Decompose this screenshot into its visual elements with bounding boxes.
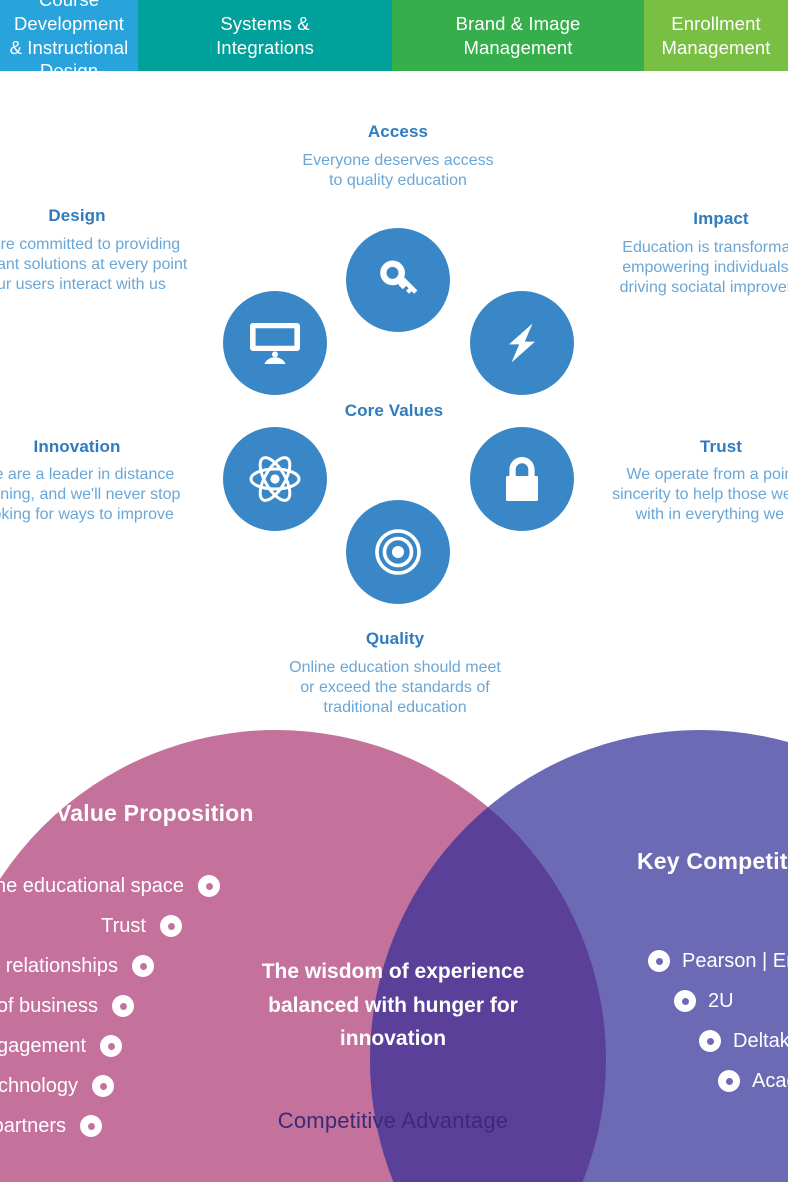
competitive-advantage-statement: The wisdom of experience balanced with h… <box>228 955 558 1056</box>
core-value-title-access: Access <box>244 122 552 142</box>
core-value-title-design: Design <box>0 206 232 226</box>
key-competitor-item-label: Pearson | Embanet <box>682 951 788 971</box>
bullet-dot-icon <box>80 1115 102 1137</box>
core-value-description-quality: Online education should meet or exceed t… <box>240 658 550 717</box>
category-segment-enrollment-management[interactable]: Enrollment Management <box>644 0 788 71</box>
core-value-title-impact: Impact <box>566 209 788 229</box>
list-item: Proprietary technology <box>0 1075 220 1097</box>
list-item: Deltak <box>648 1030 788 1052</box>
value-proposition-item-label: Leader in the educational space <box>0 876 184 896</box>
target-icon <box>372 526 424 578</box>
core-value-icon-circle-trust[interactable] <box>470 427 574 531</box>
monitor-icon <box>248 317 302 369</box>
core-value-icon-circle-impact[interactable] <box>470 291 574 395</box>
core-value-icon-circle-design[interactable] <box>223 291 327 395</box>
core-value-description-design: We're committed to providing elegant sol… <box>0 235 232 294</box>
value-proposition-item-label: Trust <box>101 916 146 936</box>
lightning-bolt-icon <box>496 317 548 369</box>
core-value-description-access: Everyone deserves access to quality educ… <box>244 151 552 191</box>
bullet-dot-icon <box>160 915 182 937</box>
list-item: 2U <box>648 990 788 1012</box>
core-value-description-impact: Education is transformative, empowering … <box>566 238 788 297</box>
bullet-dot-icon <box>198 875 220 897</box>
competitive-advantage-label: Competitive Advantage <box>228 1108 558 1134</box>
key-icon <box>372 254 424 306</box>
core-value-title-innovation: Innovation <box>0 437 232 457</box>
core-values-center-label: Core Values <box>0 401 788 421</box>
core-value-description-trust: We operate from a point of sincerity to … <box>566 465 788 524</box>
value-proposition-item-label: Long-term relationships <box>0 956 118 976</box>
list-item: Academic Partnerships <box>648 1070 788 1092</box>
core-value-title-quality: Quality <box>240 629 550 649</box>
list-item: Long-term relationships <box>0 955 220 977</box>
core-value-icon-circle-access[interactable] <box>346 228 450 332</box>
category-segment-course-development[interactable]: Course Development & Instructional Desig… <box>0 0 138 71</box>
key-competitors-list: Pearson | Embanet 2U Deltak Academic Par… <box>648 950 788 1110</box>
list-item: Dedicated partners <box>0 1115 220 1137</box>
value-proposition-list: Leader in the educational space Trust Lo… <box>0 875 220 1155</box>
core-value-title-trust: Trust <box>566 437 788 457</box>
list-item: Leader in the educational space <box>0 875 220 897</box>
key-competitor-item-label: Academic Partnerships <box>752 1071 788 1091</box>
bullet-dot-icon <box>718 1070 740 1092</box>
list-item: Trust <box>0 915 220 937</box>
venn-heading-value-proposition: Value Proposition <box>56 800 254 827</box>
bullet-dot-icon <box>674 990 696 1012</box>
list-item: Student engagement <box>0 1035 220 1057</box>
bullet-dot-icon <box>100 1035 122 1057</box>
bullet-dot-icon <box>699 1030 721 1052</box>
value-proposition-item-label: Dedicated partners <box>0 1116 66 1136</box>
core-value-description-innovation: We are a leader in distance learning, an… <box>0 465 232 524</box>
bullet-dot-icon <box>112 995 134 1017</box>
value-proposition-item-label: Understanding of business <box>0 996 98 1016</box>
category-segment-brand-image-management[interactable]: Brand & Image Management <box>392 0 644 71</box>
core-values-section: Access Everyone deserves access to quali… <box>0 71 788 730</box>
lock-icon <box>499 453 545 505</box>
key-competitor-item-label: 2U <box>708 991 734 1011</box>
infographic-page: Course Development & Instructional Desig… <box>0 0 788 1182</box>
atom-icon <box>248 452 302 506</box>
bullet-dot-icon <box>132 955 154 977</box>
bullet-dot-icon <box>92 1075 114 1097</box>
key-competitor-item-label: Deltak <box>733 1031 788 1051</box>
venn-heading-key-competitors: Key Competitors <box>637 848 788 875</box>
bullet-dot-icon <box>648 950 670 972</box>
value-proposition-item-label: Proprietary technology <box>0 1076 78 1096</box>
value-proposition-item-label: Student engagement <box>0 1036 86 1056</box>
list-item: Pearson | Embanet <box>648 950 788 972</box>
category-segment-systems-integrations[interactable]: Systems & Integrations <box>138 0 392 71</box>
core-value-icon-circle-innovation[interactable] <box>223 427 327 531</box>
list-item: Understanding of business <box>0 995 220 1017</box>
core-value-icon-circle-quality[interactable] <box>346 500 450 604</box>
category-bar: Course Development & Instructional Desig… <box>0 0 788 71</box>
